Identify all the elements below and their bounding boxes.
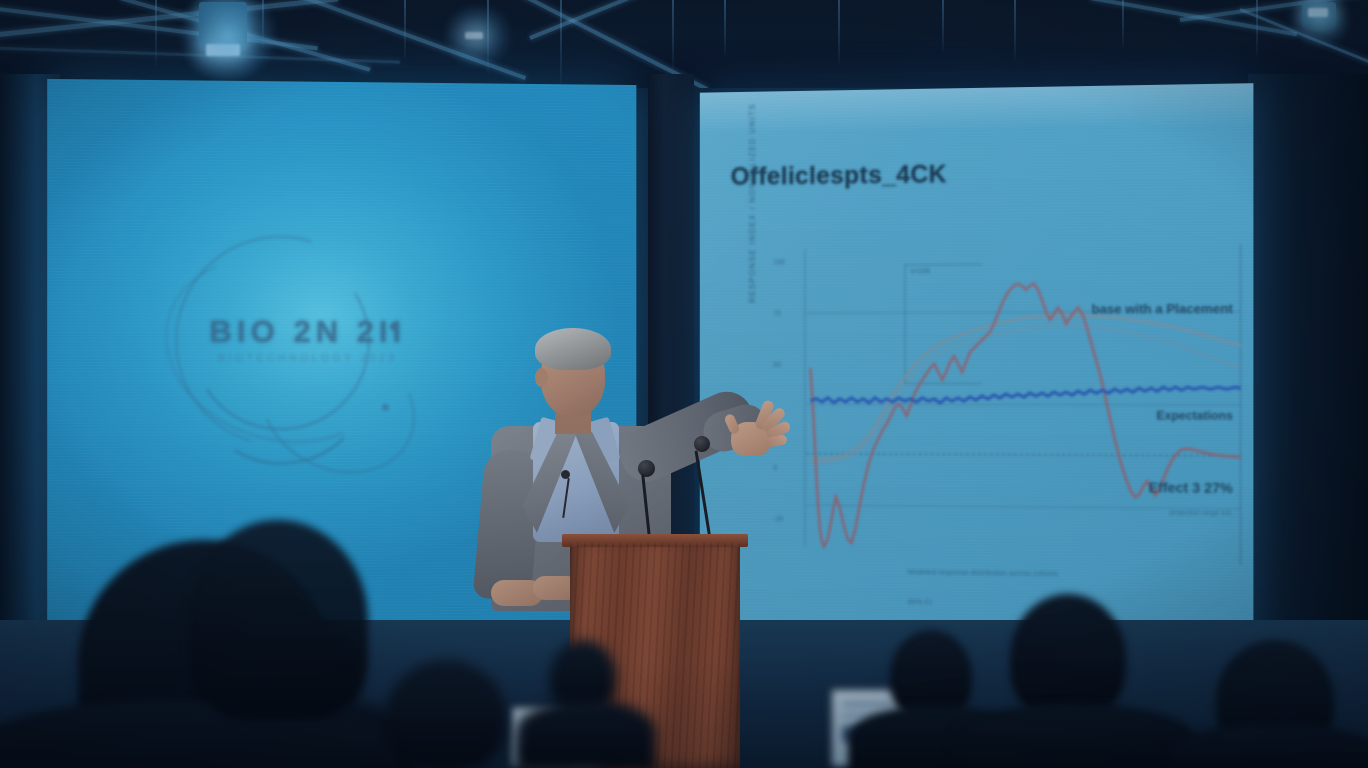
audience-shoulders [1170, 724, 1368, 768]
slide-title: Offeliclespts_4CK [731, 160, 947, 191]
audience-head [386, 660, 506, 768]
right-hand-gesture [725, 400, 783, 454]
series-line-expectations [810, 387, 1241, 404]
chart-annotation-subtext: projected range est. [1170, 510, 1233, 518]
ear [535, 368, 548, 387]
audience-shoulders [952, 704, 1196, 768]
chart-annotation-effect: Effect 3 27% [1149, 479, 1233, 496]
chart-annotation-expectations: Expectations [1156, 408, 1232, 422]
audience-head-foreground [188, 520, 368, 720]
audience-shoulders [516, 700, 656, 768]
right-wall-panel [1248, 74, 1368, 664]
event-logo: BIO 2N 2II BIOTECHNOLOGY 2023 [157, 241, 457, 442]
audience-head [1010, 594, 1126, 722]
hair [535, 328, 611, 370]
conference-scene: BIO 2N 2II BIOTECHNOLOGY 2023 Offelicles… [0, 0, 1368, 768]
event-logo-text: BIO 2N 2II [157, 314, 457, 350]
chart-annotation-base-placement: base with a Placement [1092, 301, 1233, 317]
chart-plot-area: RESPONSE INDEX / NORMALIZED UNITS 100 75… [756, 254, 1241, 559]
slide-caption: 95% CI [908, 597, 932, 606]
event-logo-tagline: BIOTECHNOLOGY 2023 [157, 352, 457, 364]
chart-series-lines [756, 254, 1241, 559]
slide-caption: Modeled response distribution across coh… [908, 567, 1058, 578]
